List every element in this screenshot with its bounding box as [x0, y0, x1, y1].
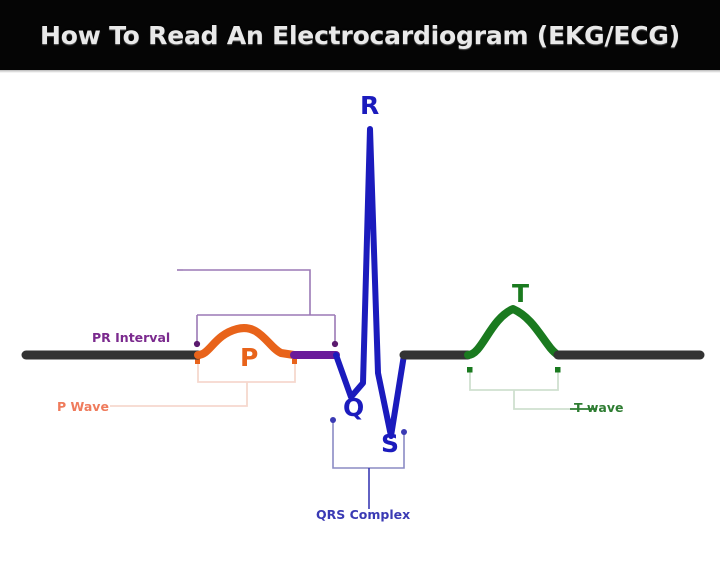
- t-wave-marker-left: [467, 367, 473, 373]
- pr-interval-marker-left: [194, 341, 200, 347]
- p-wave-marker-left: [195, 359, 200, 364]
- t-wave-trace: [468, 309, 558, 355]
- annotation-pr-interval: PR Interval: [92, 332, 170, 345]
- wave-letter-s: S: [381, 431, 399, 456]
- page-title: How To Read An Electrocardiogram (EKG/EC…: [0, 0, 720, 70]
- pr-interval-marker-right: [332, 341, 338, 347]
- t-wave-marker-right: [555, 367, 561, 373]
- wave-letter-t: T: [512, 281, 529, 306]
- p-wave-marker-right: [292, 359, 297, 364]
- wave-letter-q: Q: [343, 395, 364, 420]
- wave-letter-r: R: [360, 93, 379, 118]
- wave-letter-p: P: [240, 345, 258, 370]
- annotation-p-wave: P Wave: [57, 401, 109, 414]
- qrs-marker-left: [330, 417, 336, 423]
- qrs-complex-trace: [336, 129, 404, 436]
- ekg-diagram: P Q R S T PR Interval P Wave QRS Complex…: [0, 73, 720, 568]
- annotation-t-wave: T wave: [574, 402, 624, 415]
- p-wave-bracket: [150, 359, 297, 406]
- qrs-marker-right: [401, 429, 407, 435]
- annotation-qrs-complex: QRS Complex: [316, 509, 410, 522]
- ekg-waveform-svg: [0, 73, 720, 568]
- t-wave-bracket: [467, 367, 570, 409]
- ekg-infographic-page: How To Read An Electrocardiogram (EKG/EC…: [0, 0, 720, 568]
